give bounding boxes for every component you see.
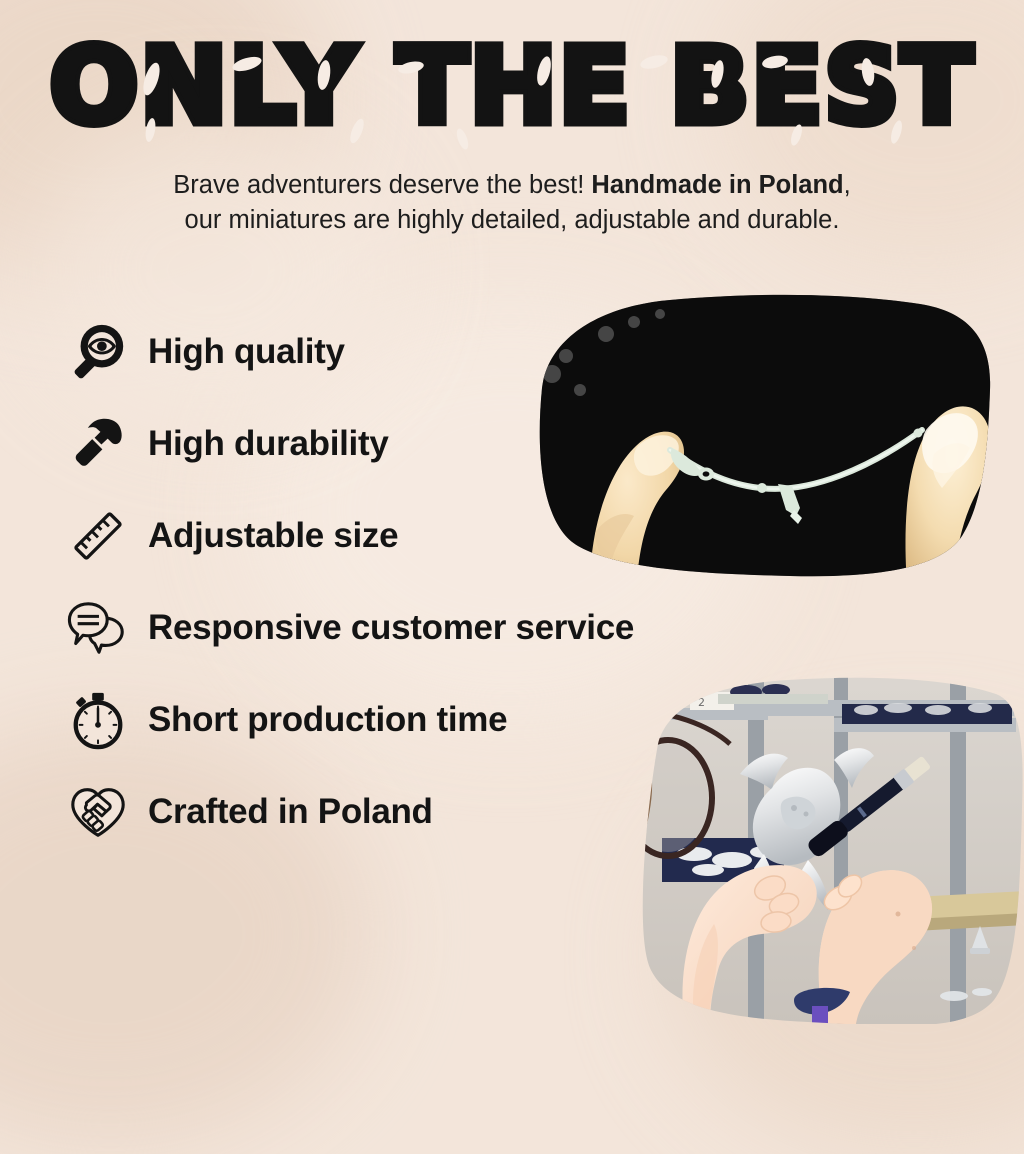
feature-label: Adjustable size: [148, 516, 398, 556]
feature-label: High durability: [148, 424, 389, 464]
feature-label: Crafted in Poland: [148, 792, 433, 832]
handshake-heart-icon: [62, 776, 134, 848]
feature-item-short-production-time: Short production time: [62, 674, 634, 766]
feature-label: High quality: [148, 332, 345, 372]
subtitle-line-2: our miniatures are highly detailed, adju…: [185, 206, 840, 234]
subtitle-line-1: Brave adventurers deserve the best! Hand…: [173, 171, 850, 199]
hammer-icon: [62, 408, 134, 480]
magnifier-eye-icon: [62, 316, 134, 388]
feature-label: Short production time: [148, 700, 507, 740]
subtitle: Brave adventurers deserve the best! Hand…: [0, 168, 1024, 238]
svg-text:2: 2: [698, 696, 705, 709]
feature-label: Responsive customer service: [148, 608, 634, 648]
feature-item-responsive-customer-service: Responsive customer service: [62, 582, 634, 674]
page-title: ONLY THE BEST: [50, 34, 974, 138]
stopwatch-icon: [62, 684, 134, 756]
feature-list: High quality High durability: [62, 306, 634, 858]
subtitle-highlight: Handmade in Poland: [591, 171, 843, 199]
feature-item-adjustable-size: Adjustable size: [62, 490, 634, 582]
ruler-icon: [62, 500, 134, 572]
speech-bubbles-icon: [62, 592, 134, 664]
header: ONLY THE BEST Brave adventurers deserve …: [0, 0, 1024, 238]
feature-item-high-durability: High durability: [62, 398, 634, 490]
photo-workshop-painting: 2: [598, 648, 1024, 1024]
feature-item-crafted-in-poland: Crafted in Poland: [62, 766, 634, 858]
feature-item-high-quality: High quality: [62, 306, 634, 398]
